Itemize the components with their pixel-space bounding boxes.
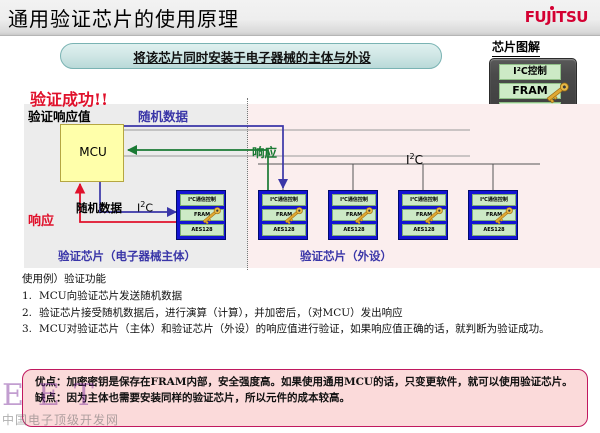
usecase-description: 使用例）验证功能 1. MCU向验证芯片发送随机数据 2. 验证芯片接受随机数据…: [22, 272, 588, 338]
step-text: MCU向验证芯片发送随机数据: [39, 289, 182, 304]
i2c-left-label: I2C: [137, 200, 153, 215]
legend-block-fram: FRAM: [499, 83, 561, 99]
mcu-label: MCU: [61, 145, 125, 159]
pros-cons-content: 优点：加密密钥是保存在FRAM内部，安全强度高。如果使用通用MCU的话，只变更软…: [35, 375, 579, 407]
response-left-label: 响应: [28, 210, 54, 229]
slide-root: 通用验证芯片的使用原理 FUJITSU 将该芯片同时安装于电子器械的主体与外设 …: [0, 0, 600, 433]
pros-cons-box: 优点：加密密钥是保存在FRAM内部，安全强度高。如果使用通用MCU的话，只变更软…: [22, 369, 588, 427]
page-title: 通用验证芯片的使用原理: [8, 3, 239, 32]
response-mid-label: 响应: [252, 142, 277, 161]
verification-chip-peripheral: I²C通信控制 FRAM AES128: [468, 190, 518, 240]
chip-legend-title: 芯片图解: [492, 38, 540, 57]
cons-text: 缺点：因为主体也需要安装同样的验证芯片，所以元件的成本较高。: [35, 391, 579, 407]
key-icon: [351, 203, 377, 229]
list-item: 3. MCU对验证芯片（主体）和验证芯片（外设）的响应值进行验证，如果响应值正确…: [22, 322, 588, 337]
key-icon: [421, 203, 447, 229]
random-data-bottom-label: 随机数据: [76, 200, 122, 216]
step-number: 2.: [22, 306, 34, 321]
slide-header: 通用验证芯片的使用原理 FUJITSU: [0, 0, 600, 36]
caption-peripheral-chip: 验证芯片（外设）: [300, 248, 392, 264]
verification-chip-peripheral: I²C通信控制 FRAM AES128: [398, 190, 448, 240]
step-number: 3.: [22, 322, 34, 337]
mcu-block: MCU: [60, 124, 124, 182]
list-item: 2. 验证芯片接受随机数据后，进行演算（计算），并加密后，（对MCU）发出响应: [22, 306, 588, 321]
step-text: MCU对验证芯片（主体）和验证芯片（外设）的响应值进行验证，如果响应值正确的话，…: [39, 322, 550, 337]
subtitle-banner: 将该芯片同时安装于电子器械的主体与外设: [60, 43, 442, 69]
subtitle-banner-text: 将该芯片同时安装于电子器械的主体与外设: [61, 47, 443, 66]
verification-chip-main: I²C通信控制 FRAM AES128: [176, 190, 226, 240]
verification-chip-peripheral: I²C通信控制 FRAM AES128: [258, 190, 308, 240]
verification-chip-peripheral: I²C通信控制 FRAM AES128: [328, 190, 378, 240]
principle-diagram: 验证成功!! 验证响应值 MCU 随机数据 响应 随机数据 I2C 响应 I2C…: [0, 104, 600, 268]
key-icon: [199, 203, 225, 229]
pros-text: 优点：加密密钥是保存在FRAM内部，安全强度高。如果使用通用MCU的话，只变更软…: [35, 375, 579, 391]
list-item: 1. MCU向验证芯片发送随机数据: [22, 289, 588, 304]
usecase-heading: 使用例）验证功能: [22, 272, 588, 287]
usecase-step-list: 1. MCU向验证芯片发送随机数据 2. 验证芯片接受随机数据后，进行演算（计算…: [22, 289, 588, 337]
key-icon: [281, 203, 307, 229]
legend-block-i2c: I²C控制: [499, 64, 561, 80]
random-data-top-label: 随机数据: [138, 106, 188, 125]
verification-response-value-label: 验证响应值: [28, 106, 91, 125]
fujitsu-logo: FUJITSU: [525, 8, 588, 26]
key-icon: [491, 203, 517, 229]
caption-main-body-chip: 验证芯片（电子器械主体）: [58, 248, 196, 264]
i2c-bus-label: I2C: [406, 152, 423, 167]
step-text: 验证芯片接受随机数据后，进行演算（计算），并加密后，（对MCU）发出响应: [39, 306, 403, 321]
step-number: 1.: [22, 289, 34, 304]
